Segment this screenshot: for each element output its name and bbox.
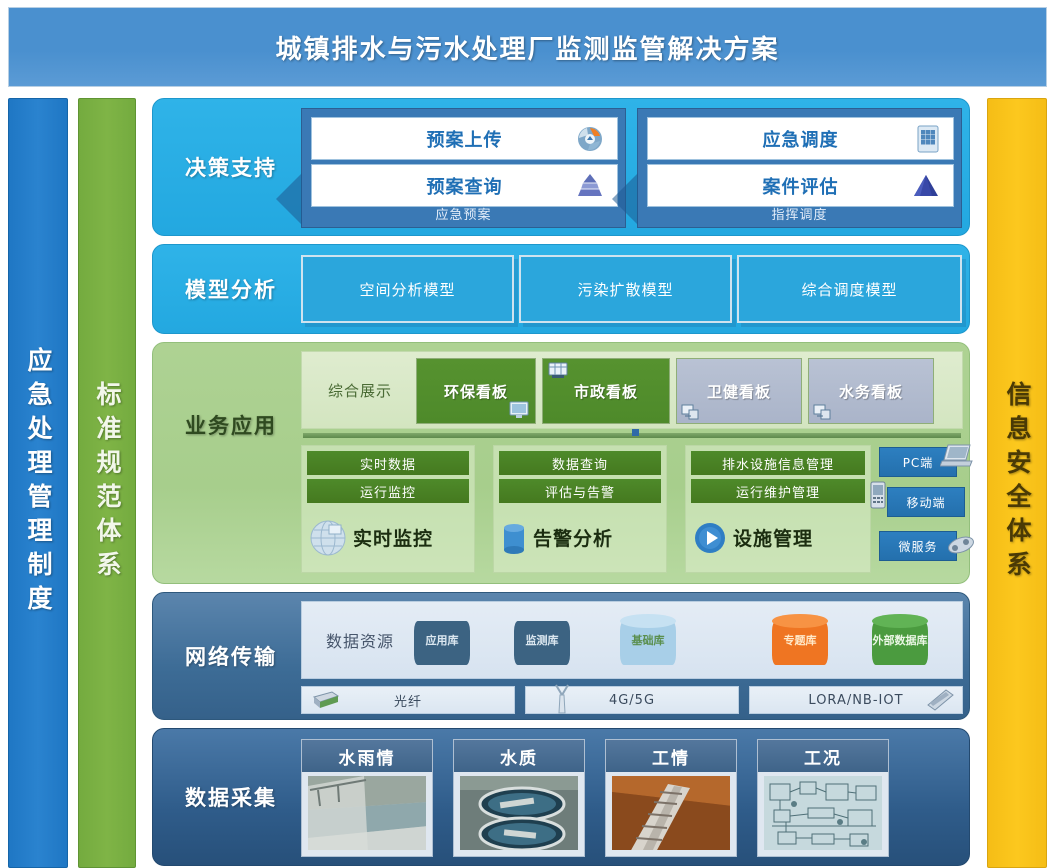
layer-stack: 决策支持 预案上传	[152, 98, 970, 868]
database-thematic-label: 专题库	[772, 614, 828, 668]
mobile-phone-icon	[868, 480, 888, 510]
pillar-standards-system: 标准规范体系	[78, 98, 136, 868]
dashboard-card-municipal-label: 市政看板	[574, 381, 638, 402]
client-mobile[interactable]: 移动端	[887, 487, 965, 517]
database-basic-label: 基础库	[620, 614, 676, 668]
database-thematic[interactable]: 专题库	[772, 614, 828, 668]
layer-model-label: 模型分析	[171, 245, 291, 333]
app-main-facility-management[interactable]: 设施管理	[691, 508, 865, 567]
data-resource-title: 数据资源	[312, 602, 408, 678]
data-card-hydrology-label: 水雨情	[339, 744, 396, 769]
button-case-assessment[interactable]: 案件评估	[647, 164, 954, 207]
pillar-emergency-management: 应急处理管理制度	[8, 98, 68, 868]
transport-lora-label: LORA/NB-IOT	[808, 693, 903, 708]
layer-business-label: 业务应用	[171, 395, 291, 455]
dashboard-card-water-label: 水务看板	[839, 381, 903, 402]
dashboard-card-environment[interactable]: 环保看板	[416, 358, 536, 424]
model-box-dispatch[interactable]: 综合调度模型	[737, 255, 962, 323]
dashboard-underline	[303, 433, 961, 438]
group-emergency-plan: 预案上传 预案查询	[301, 108, 626, 228]
page-title: 城镇排水与污水处理厂监测监管解决方案	[275, 29, 779, 66]
app-main-realtime-monitoring-label: 实时监控	[353, 524, 433, 551]
app-chip-operation-maintenance[interactable]: 运行维护管理	[691, 479, 865, 503]
diagram-root: 城镇排水与污水处理厂监测监管解决方案 应急处理管理制度 标准规范体系 信息安全体…	[0, 0, 1055, 868]
app-main-realtime-monitoring[interactable]: 实时监控	[307, 508, 469, 567]
button-plan-query[interactable]: 预案查询	[311, 164, 618, 207]
model-box-spatial-label: 空间分析模型	[359, 279, 455, 300]
pillar-security-label: 信息安全体系	[999, 381, 1035, 585]
pillar-standard-label: 标准规范体系	[89, 381, 125, 585]
antenna-icon	[550, 681, 574, 715]
transport-cellular[interactable]: 4G/5G	[525, 686, 739, 714]
group-command-dispatch-caption: 指挥调度	[638, 204, 961, 223]
database-application[interactable]: 应用库	[414, 614, 470, 668]
river-channel-photo	[308, 776, 426, 850]
scada-diagram-photo	[764, 776, 882, 850]
button-plan-upload-label: 预案上传	[427, 126, 503, 152]
layer-data-acquisition: 数据采集 水雨情	[152, 728, 970, 866]
client-pc[interactable]: PC端	[879, 447, 957, 477]
app-chip-assessment-alarm-label: 评估与告警	[545, 482, 615, 501]
group-command-dispatch: 应急调度 案件评估	[637, 108, 962, 228]
data-card-engineering-label: 工情	[652, 744, 690, 769]
app-column-alarm: 数据查询 评估与告警 告警分析	[493, 445, 667, 573]
pipeline-trench-photo	[612, 776, 730, 850]
dashboard-strip-title: 综合展示	[312, 352, 408, 428]
database-basic[interactable]: 基础库	[620, 614, 676, 668]
model-box-pollution-label: 污染扩散模型	[577, 279, 673, 300]
dashboard-card-water[interactable]: 水务看板	[808, 358, 934, 424]
app-column-monitoring: 实时数据 运行监控	[301, 445, 475, 573]
diagram-title-bar: 城镇排水与污水处理厂监测监管解决方案	[8, 7, 1047, 87]
layer-network-label: 网络传输	[171, 593, 291, 719]
sedimentation-tanks-photo	[460, 776, 578, 850]
layer-decision-support: 决策支持 预案上传	[152, 98, 970, 236]
sensor-icon	[924, 688, 956, 712]
layer-data-label: 数据采集	[171, 729, 291, 865]
button-plan-upload[interactable]: 预案上传	[311, 117, 618, 160]
data-card-engineering[interactable]: 工情	[605, 739, 737, 857]
network-node-icon	[681, 404, 699, 420]
play-circle-icon	[691, 519, 729, 557]
transport-fiber-label: 光纤	[394, 691, 422, 710]
database-application-label: 应用库	[414, 614, 470, 668]
app-column-facility: 排水设施信息管理 运行维护管理 设施管理	[685, 445, 871, 573]
dashboard-strip: 综合展示 环保看板 市政看板	[301, 351, 963, 429]
client-mobile-label: 移动端	[906, 494, 945, 511]
dashboard-card-health[interactable]: 卫健看板	[676, 358, 802, 424]
window-icon	[548, 362, 568, 380]
app-chip-realtime-data[interactable]: 实时数据	[307, 451, 469, 475]
globe-icon	[307, 517, 349, 559]
transport-fiber[interactable]: 光纤	[301, 686, 515, 714]
data-card-water-quality-label: 水质	[500, 744, 538, 769]
data-card-hydrology[interactable]: 水雨情	[301, 739, 433, 857]
pillar-information-security: 信息安全体系	[987, 98, 1047, 868]
monitor-icon	[509, 401, 529, 419]
app-main-facility-management-label: 设施管理	[733, 524, 813, 551]
app-chip-operation-monitor[interactable]: 运行监控	[307, 479, 469, 503]
client-pc-label: PC端	[903, 454, 934, 471]
button-case-assessment-label: 案件评估	[763, 173, 839, 199]
transport-cellular-label: 4G/5G	[609, 693, 655, 708]
data-card-water-quality[interactable]: 水质	[453, 739, 585, 857]
button-emergency-dispatch[interactable]: 应急调度	[647, 117, 954, 160]
transport-row: 光纤 4G/5G LORA/NB-IOT	[301, 686, 963, 714]
app-chip-data-query[interactable]: 数据查询	[499, 451, 661, 475]
data-card-water-quality-head: 水质	[454, 740, 584, 772]
model-box-dispatch-label: 综合调度模型	[801, 279, 897, 300]
device-icon	[946, 532, 976, 558]
data-card-hydrology-head: 水雨情	[302, 740, 432, 772]
data-resource-strip: 数据资源 应用库 监测库 基础库 专题库	[301, 601, 963, 679]
client-column: PC端 移动端	[879, 443, 965, 573]
layer-decision-label: 决策支持	[171, 99, 291, 235]
data-card-working-condition-head: 工况	[758, 740, 888, 772]
database-external[interactable]: 外部数据库	[872, 614, 928, 668]
dashboard-card-health-label: 卫健看板	[707, 381, 771, 402]
app-chip-drainage-facility-info[interactable]: 排水设施信息管理	[691, 451, 865, 475]
pillar-emergency-label: 应急处理管理制度	[20, 347, 56, 619]
app-chip-operation-monitor-label: 运行监控	[360, 482, 416, 501]
dashboard-card-environment-label: 环保看板	[444, 381, 508, 402]
data-card-working-condition[interactable]: 工况	[757, 739, 889, 857]
button-plan-query-label: 预案查询	[427, 173, 503, 199]
database-monitoring[interactable]: 监测库	[514, 614, 570, 668]
app-chip-assessment-alarm[interactable]: 评估与告警	[499, 479, 661, 503]
model-box-spatial[interactable]: 空间分析模型	[301, 255, 514, 323]
layer-model-analysis: 模型分析 空间分析模型 污染扩散模型 综合调度模型	[152, 244, 970, 334]
database-cylinder-icon	[499, 518, 529, 558]
data-card-working-condition-label: 工况	[804, 744, 842, 769]
laptop-icon	[940, 442, 974, 470]
dashboard-card-municipal[interactable]: 市政看板	[542, 358, 670, 424]
layer-business-application: 业务应用 综合展示 环保看板 市政看板	[152, 342, 970, 584]
group-emergency-plan-caption: 应急预案	[302, 204, 625, 223]
app-chip-data-query-label: 数据查询	[552, 454, 608, 473]
app-main-alarm-analysis[interactable]: 告警分析	[499, 508, 661, 567]
data-card-engineering-head: 工情	[606, 740, 736, 772]
app-main-alarm-analysis-label: 告警分析	[533, 524, 613, 551]
app-chip-drainage-facility-info-label: 排水设施信息管理	[722, 454, 834, 473]
switch-icon	[310, 689, 340, 711]
pyramid-chart-icon	[575, 172, 605, 200]
cone-icon	[911, 172, 941, 200]
database-external-label: 外部数据库	[872, 614, 928, 668]
client-microservice-label: 微服务	[898, 538, 937, 555]
model-box-pollution[interactable]: 污染扩散模型	[519, 255, 732, 323]
layer-network-transmission: 网络传输 数据资源 应用库 监测库 基础库 专题库	[152, 592, 970, 720]
upload-cycle-icon	[575, 124, 605, 154]
client-microservice[interactable]: 微服务	[879, 531, 957, 561]
app-chip-realtime-data-label: 实时数据	[360, 454, 416, 473]
grid-table-icon	[915, 124, 941, 154]
app-chip-operation-maintenance-label: 运行维护管理	[736, 482, 820, 501]
button-emergency-dispatch-label: 应急调度	[763, 126, 839, 152]
database-monitoring-label: 监测库	[514, 614, 570, 668]
transport-lora[interactable]: LORA/NB-IOT	[749, 686, 963, 714]
network-node-icon	[813, 404, 831, 420]
